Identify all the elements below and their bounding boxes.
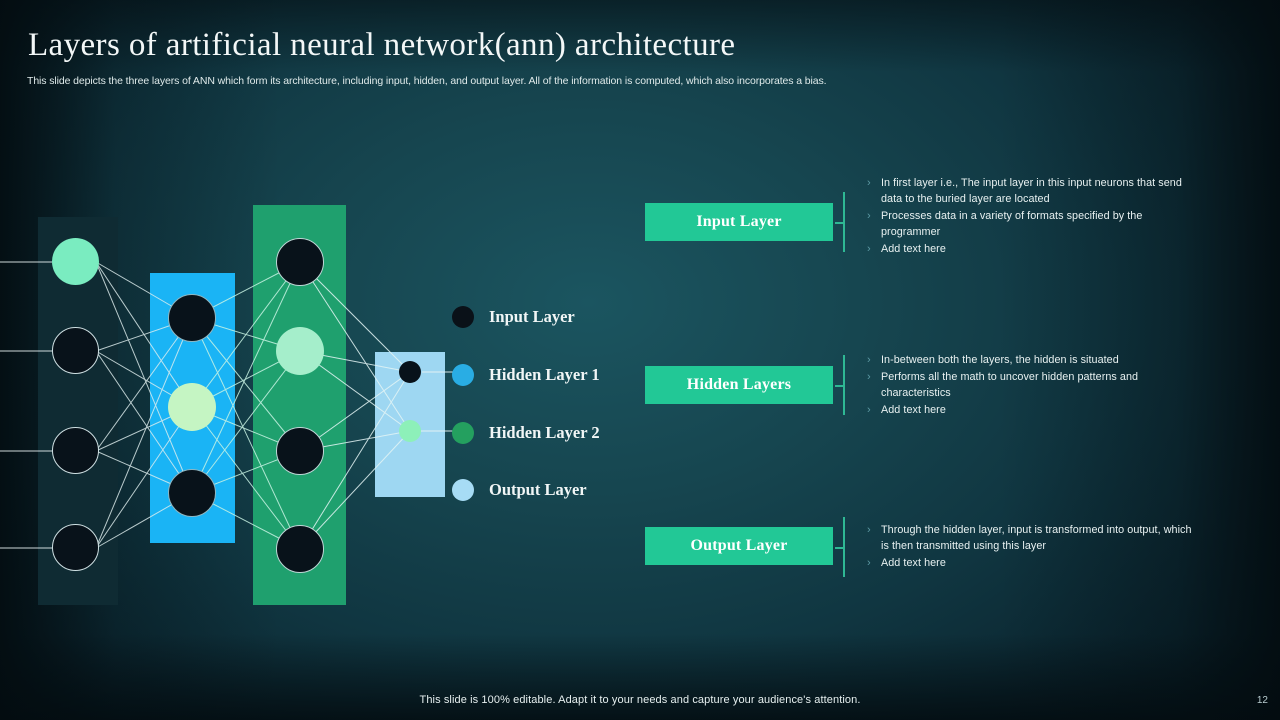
connector-tick [835,222,844,224]
hidden1-node-2 [168,383,216,431]
bullets-input-layer: › In first layer i.e., The input layer i… [867,175,1187,258]
badge-hidden-layers[interactable]: Hidden Layers [645,366,833,404]
output-node-1 [399,361,421,383]
connector-tick [835,547,844,549]
hidden2-node-1 [276,238,324,286]
connector-tick [835,385,844,387]
connector-hidden-layers [835,355,845,415]
output-node-2 [399,420,421,442]
bullet-text: Add text here [881,555,1197,571]
legend-label-hidden-layer-2: Hidden Layer 2 [489,423,600,443]
legend-label-hidden-layer-1: Hidden Layer 1 [489,365,600,385]
slide-root: Layers of artificial neural network(ann)… [0,0,1280,720]
legend-label-input-layer: Input Layer [489,307,575,327]
bullets-hidden-layers: › In-between both the layers, the hidden… [867,352,1187,419]
hidden2-node-2 [276,327,324,375]
page-number: 12 [1257,695,1268,706]
hidden2-node-4 [276,525,324,573]
input-node-1 [52,238,99,285]
bullet-text: Processes data in a variety of formats s… [881,208,1187,240]
connector-output-layer [835,517,845,577]
list-item: › Add text here [867,555,1197,571]
legend-item-hidden-layer-1: Hidden Layer 1 [452,364,600,386]
chevron-right-icon: › [867,522,881,554]
bullets-output-layer: › Through the hidden layer, input is tra… [867,522,1197,572]
chevron-right-icon: › [867,208,881,240]
chevron-right-icon: › [867,402,881,418]
bullet-text: Add text here [881,402,1187,418]
legend-label-output-layer: Output Layer [489,480,587,500]
legend-dot-input-layer [452,306,474,328]
list-item: › Performs all the math to uncover hidde… [867,369,1187,401]
list-item: › In first layer i.e., The input layer i… [867,175,1187,207]
bullet-text: In-between both the layers, the hidden i… [881,352,1187,368]
input-node-2 [52,327,99,374]
chevron-right-icon: › [867,352,881,368]
chevron-right-icon: › [867,555,881,571]
list-item: › Add text here [867,241,1187,257]
list-item: › Processes data in a variety of formats… [867,208,1187,240]
chevron-right-icon: › [867,175,881,207]
hidden1-node-3 [168,469,216,517]
footer-note: This slide is 100% editable. Adapt it to… [0,694,1280,706]
badge-input-layer[interactable]: Input Layer [645,203,833,241]
legend-item-hidden-layer-2: Hidden Layer 2 [452,422,600,444]
list-item: › Add text here [867,402,1187,418]
page-title: Layers of artificial neural network(ann)… [28,24,735,66]
bullet-text: Performs all the math to uncover hidden … [881,369,1187,401]
list-item: › In-between both the layers, the hidden… [867,352,1187,368]
legend-item-output-layer: Output Layer [452,479,587,501]
hidden1-node-1 [168,294,216,342]
hidden2-node-3 [276,427,324,475]
list-item: › Through the hidden layer, input is tra… [867,522,1197,554]
page-subtitle: This slide depicts the three layers of A… [27,74,1207,88]
badge-output-layer[interactable]: Output Layer [645,527,833,565]
bullet-text: Add text here [881,241,1187,257]
input-node-4 [52,524,99,571]
connector-input-layer [835,192,845,252]
bullet-text: Through the hidden layer, input is trans… [881,522,1197,554]
chevron-right-icon: › [867,241,881,257]
input-node-3 [52,427,99,474]
legend-dot-output-layer [452,479,474,501]
neural-network-diagram [0,155,640,625]
legend-dot-hidden-layer-2 [452,422,474,444]
bullet-text: In first layer i.e., The input layer in … [881,175,1187,207]
chevron-right-icon: › [867,369,881,401]
legend-item-input-layer: Input Layer [452,306,575,328]
legend-dot-hidden-layer-1 [452,364,474,386]
